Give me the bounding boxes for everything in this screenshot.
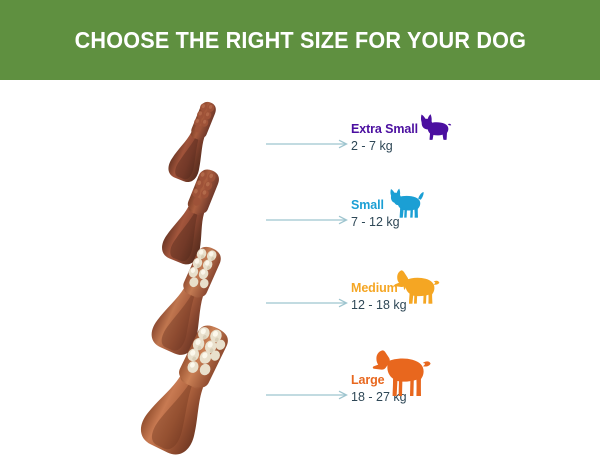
arrow-small <box>266 214 352 226</box>
arrow-extra-small <box>266 138 352 150</box>
size-guide-infographic: CHOOSE THE RIGHT SIZE FOR YOUR DOG <box>0 0 600 450</box>
page-title: CHOOSE THE RIGHT SIZE FOR YOUR DOG <box>74 27 526 54</box>
terrier-dog-icon <box>385 186 425 220</box>
arrow-medium <box>266 297 352 309</box>
arrow-large <box>266 389 352 401</box>
header-banner: CHOOSE THE RIGHT SIZE FOR YOUR DOG <box>0 0 600 80</box>
golden-retriever-icon <box>392 266 440 306</box>
labrador-dog-icon <box>370 347 432 399</box>
label-block-extra-small: Extra Small 2 - 7 kg <box>351 122 471 154</box>
french-bulldog-icon <box>418 112 452 142</box>
weight-range-extra-small: 2 - 7 kg <box>351 138 471 154</box>
product-image-large <box>128 319 246 467</box>
size-label-extra-small: Extra Small <box>351 122 471 137</box>
